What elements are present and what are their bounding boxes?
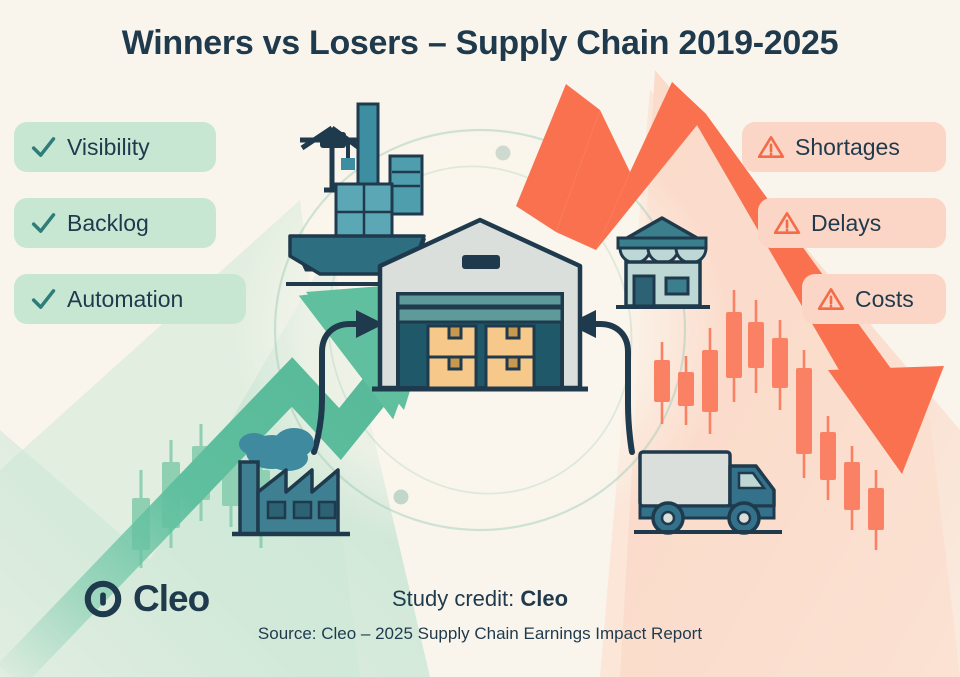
badge-label: Backlog <box>67 210 149 237</box>
badge-label: Automation <box>67 286 183 313</box>
study-credit: Study credit: Cleo <box>0 586 960 612</box>
source-line: Source: Cleo – 2025 Supply Chain Earning… <box>0 624 960 644</box>
check-icon <box>28 132 58 162</box>
check-icon <box>28 208 58 238</box>
warning-triangle-icon <box>772 208 802 238</box>
warning-triangle-icon <box>816 284 846 314</box>
badge-label: Delays <box>811 210 881 237</box>
warning-triangle-icon <box>756 132 786 162</box>
check-icon <box>28 284 58 314</box>
page-title: Winners vs Losers – Supply Chain 2019-20… <box>0 24 960 63</box>
badge-shortages[interactable]: Shortages <box>742 122 946 172</box>
badge-automation[interactable]: Automation <box>14 274 246 324</box>
badge-visibility[interactable]: Visibility <box>14 122 216 172</box>
study-credit-brand: Cleo <box>520 586 568 611</box>
study-credit-prefix: Study credit: <box>392 586 520 611</box>
badge-label: Shortages <box>795 134 900 161</box>
badge-label: Visibility <box>67 134 150 161</box>
badge-costs[interactable]: Costs <box>802 274 946 324</box>
infographic-canvas: Winners vs Losers – Supply Chain 2019-20… <box>0 0 960 677</box>
badge-backlog[interactable]: Backlog <box>14 198 216 248</box>
badge-label: Costs <box>855 286 914 313</box>
badge-delays[interactable]: Delays <box>758 198 946 248</box>
delivery-truck-icon <box>0 0 960 677</box>
